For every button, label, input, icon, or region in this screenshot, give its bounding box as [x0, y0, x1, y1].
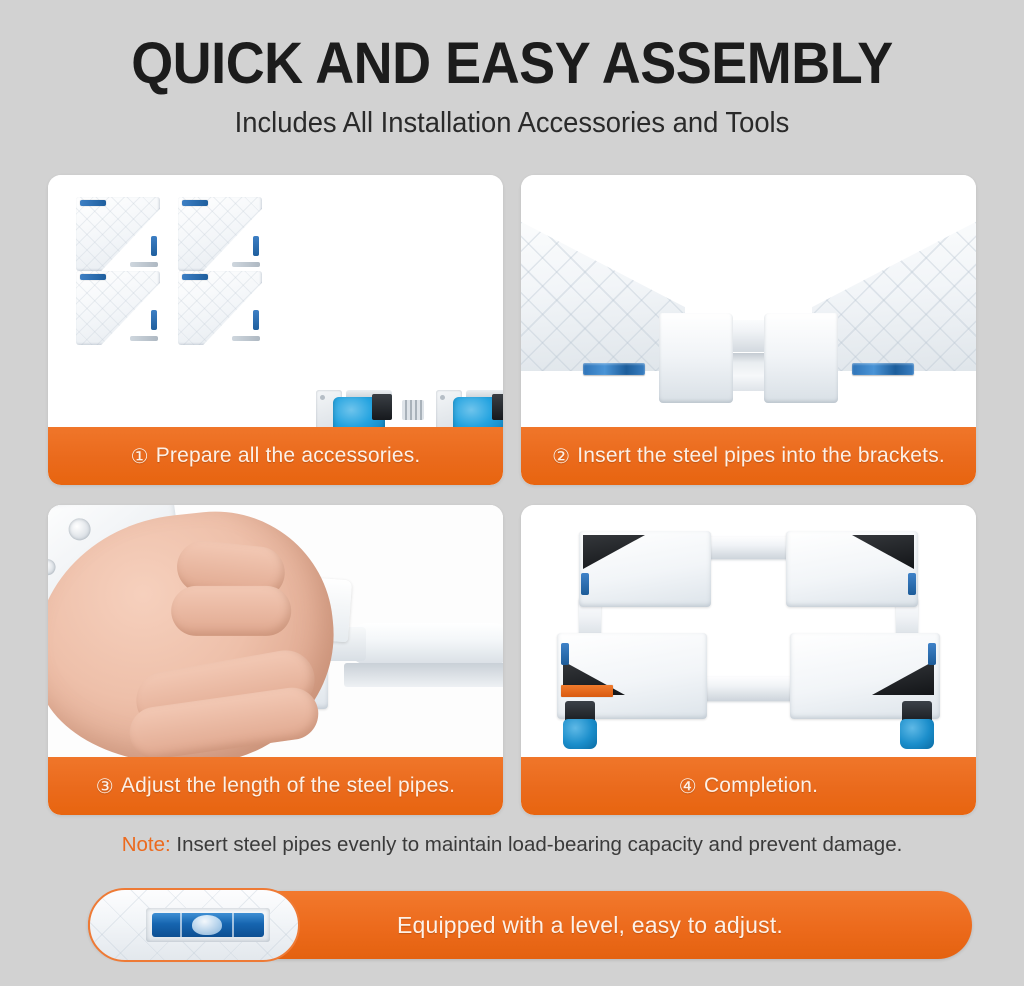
corner-bracket-part — [76, 197, 160, 271]
steel-pipe-round — [348, 623, 503, 665]
bubble-level-marker — [908, 573, 916, 595]
parts-layout — [48, 175, 503, 427]
bracket-pipe-assembly — [521, 175, 976, 427]
step-2-caption-text: Insert the steel pipes into the brackets… — [577, 444, 945, 468]
step-4-caption: ④ Completion. — [521, 757, 976, 815]
step-panel-4[interactable]: ④ Completion. — [521, 505, 976, 815]
bubble-level-right — [852, 363, 914, 375]
corner-bracket-part — [178, 271, 262, 345]
assembled-base-frame — [521, 505, 976, 757]
bubble-level-marker — [928, 643, 936, 665]
step-2-caption: ② Insert the steel pipes into the bracke… — [521, 427, 976, 485]
note-row: Note: Insert steel pipes evenly to maint… — [0, 833, 1024, 857]
step-panel-2[interactable]: ② Insert the steel pipes into the bracke… — [521, 175, 976, 485]
step-4-number: ④ — [679, 774, 697, 799]
step-4-illustration — [521, 505, 976, 757]
step-3-illustration — [48, 505, 503, 757]
step-3-caption-text: Adjust the length of the steel pipes. — [121, 774, 455, 798]
note-label: Note: — [122, 833, 171, 856]
bubble-level-marker — [581, 573, 589, 595]
bubble-level-marker — [561, 643, 569, 665]
frame-corner-bracket — [786, 531, 918, 607]
finger — [171, 586, 291, 636]
corner-bracket-part — [76, 271, 160, 345]
step-4-caption-text: Completion. — [704, 774, 818, 798]
page-subtitle: Includes All Installation Accessories an… — [20, 107, 1003, 140]
step-1-caption-text: Prepare all the accessories. — [156, 444, 421, 468]
frame-corner-bracket — [579, 531, 711, 607]
orange-product-label — [561, 685, 613, 697]
note-text: Insert steel pipes evenly to maintain lo… — [176, 833, 902, 856]
feature-banner: Equipped with a level, easy to adjust. — [88, 891, 972, 959]
bracket-socket-right — [764, 313, 838, 403]
caster-parts-group — [316, 388, 503, 427]
hand-adjustment-scene — [48, 505, 503, 757]
step-2-number: ② — [552, 444, 570, 469]
assembly-steps-grid: ① Prepare all the accessories. ② Insert … — [48, 175, 976, 815]
page-title: QUICK AND EASY ASSEMBLY — [36, 34, 988, 95]
mounted-caster — [900, 701, 934, 751]
step-1-number: ① — [131, 444, 149, 469]
step-3-caption: ③ Adjust the length of the steel pipes. — [48, 757, 503, 815]
bubble-level-left — [583, 363, 645, 375]
page-header: QUICK AND EASY ASSEMBLY Includes All Ins… — [0, 0, 1024, 140]
step-1-caption: ① Prepare all the accessories. — [48, 427, 503, 485]
mounted-caster — [563, 701, 597, 751]
level-bubble — [192, 915, 222, 935]
step-panel-3[interactable]: ③ Adjust the length of the steel pipes. — [48, 505, 503, 815]
step-panel-1[interactable]: ① Prepare all the accessories. — [48, 175, 503, 485]
step-2-illustration — [521, 175, 976, 427]
step-3-number: ③ — [96, 774, 114, 799]
bubble-level-photo — [88, 888, 300, 962]
corner-bracket-part — [178, 197, 262, 271]
bracket-socket-left — [659, 313, 733, 403]
steel-pipe-flat — [344, 663, 503, 687]
level-window — [146, 908, 270, 942]
caster-part — [436, 388, 503, 427]
caster-part — [316, 388, 424, 427]
step-1-illustration — [48, 175, 503, 427]
